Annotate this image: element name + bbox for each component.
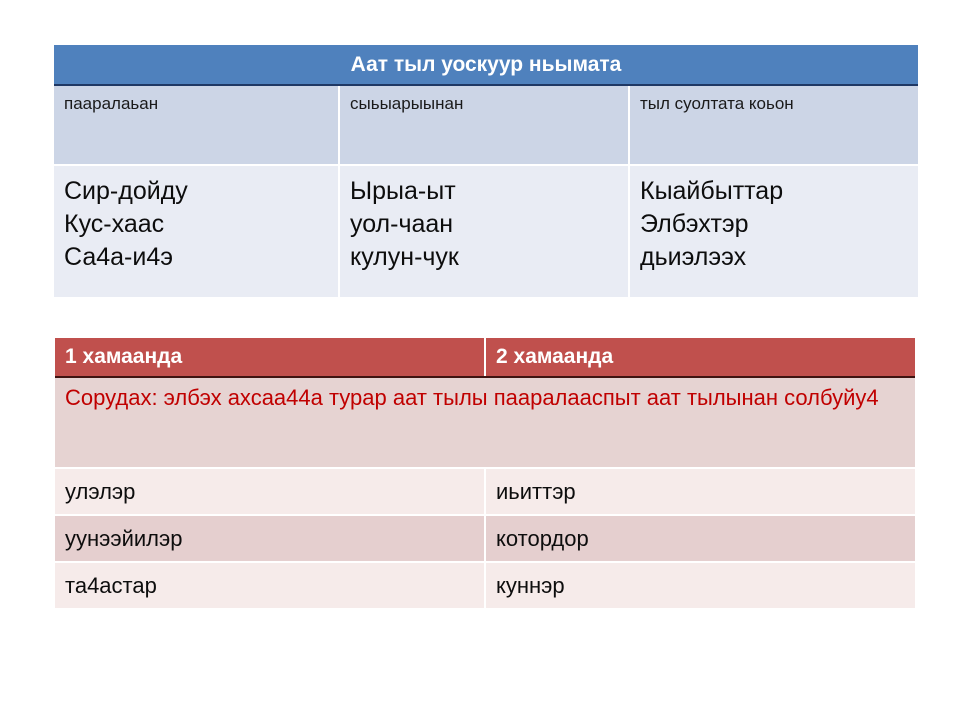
table2-task-text: Сорудах: элбэх ахсаа44а турар аат тылы п… [55, 377, 915, 468]
table1-row: Сир-дойду Кус-хаас Са4а-и4э Ырыа-ыт уол-… [54, 165, 918, 297]
table1-column-header-2: сыьыарыынан [339, 85, 629, 165]
table2-cell-r2c2: котордор [485, 515, 915, 562]
table1-column-header-1: пааралаьан [54, 85, 339, 165]
table2-header-row: 1 хамаанда 2 хамаанда [55, 338, 915, 377]
table1-cell-2: Ырыа-ыт уол-чаан кулун-чук [339, 165, 629, 297]
table2-cell-r3c1: та4астар [55, 562, 485, 608]
table-row: улэлэр иьиттэр [55, 468, 915, 515]
table1-subheader-row: пааралаьан сыьыарыынан тыл суолтата коьо… [54, 85, 918, 165]
table1-title: Аат тыл уоскуур ньымата [54, 45, 918, 85]
table1-column-header-3: тыл суолтата коьон [629, 85, 918, 165]
table2-column-header-2: 2 хамаанда [485, 338, 915, 377]
table2-cell-r2c1: уунээйилэр [55, 515, 485, 562]
table1-cell-1: Сир-дойду Кус-хаас Са4а-и4э [54, 165, 339, 297]
table2-cell-r1c2: иьиттэр [485, 468, 915, 515]
table-row: та4астар куннэр [55, 562, 915, 608]
table1-title-row: Аат тыл уоскуур ньымата [54, 45, 918, 85]
table2-cell-r1c1: улэлэр [55, 468, 485, 515]
table-row: уунээйилэр котордор [55, 515, 915, 562]
table2-task-row: Сорудах: элбэх ахсаа44а турар аат тылы п… [55, 377, 915, 468]
table2-column-header-1: 1 хамаанда [55, 338, 485, 377]
table1-cell-3: Кыайбыттар Элбэхтэр дьиэлээх [629, 165, 918, 297]
khamaanda-task-table: 1 хамаанда 2 хамаанда Сорудах: элбэх ахс… [55, 338, 915, 608]
table2-cell-r3c2: куннэр [485, 562, 915, 608]
aat-tyl-uoskuur-table: Аат тыл уоскуур ньымата пааралаьан сыьыа… [54, 45, 918, 297]
